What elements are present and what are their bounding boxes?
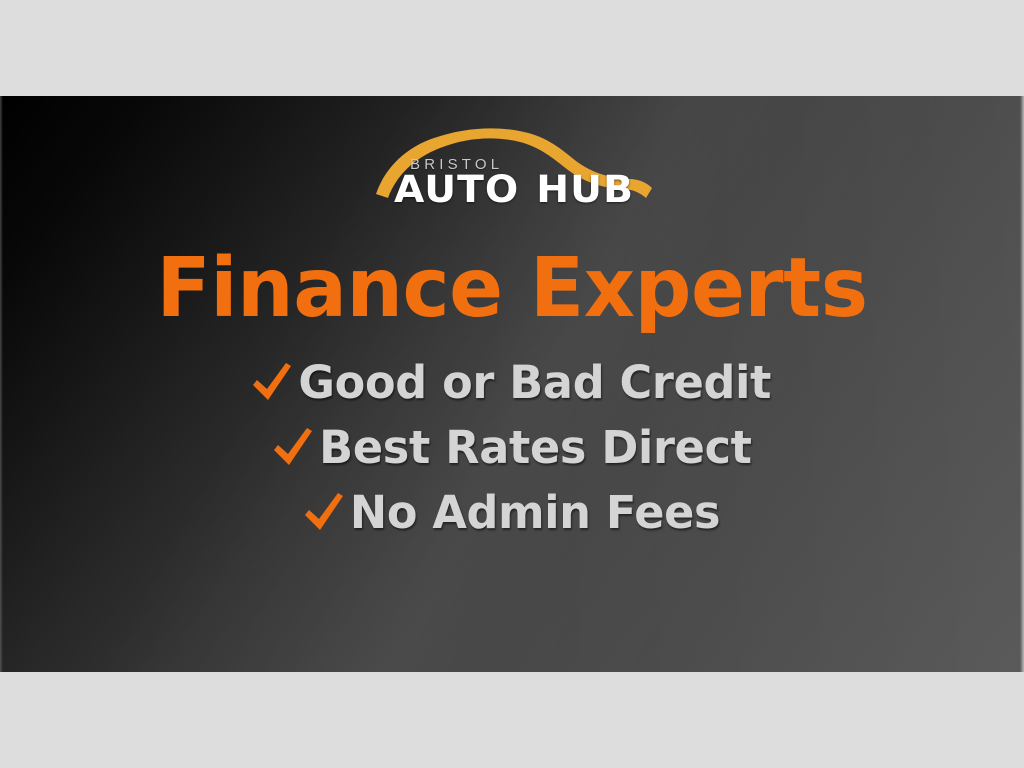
check-icon — [271, 423, 315, 473]
list-item: Best Rates Direct — [0, 423, 1024, 473]
check-icon — [250, 358, 294, 408]
letterbox-bar-top — [0, 0, 1024, 96]
benefits-list: Good or Bad Credit Best Rates Direct No … — [0, 358, 1024, 553]
list-item: No Admin Fees — [0, 488, 1024, 538]
list-item: Good or Bad Credit — [0, 358, 1024, 408]
advertisement-banner-stage: BRISTOL AUTOHUB Finance Experts Good or … — [0, 0, 1024, 768]
check-icon — [302, 488, 346, 538]
bristol-auto-hub-logo: BRISTOL AUTOHUB — [370, 118, 660, 214]
banner-artwork: BRISTOL AUTOHUB Finance Experts Good or … — [0, 96, 1024, 672]
list-item-label: Good or Bad Credit — [299, 359, 772, 406]
car-silhouette-swoosh-icon — [370, 118, 660, 214]
letterbox-bar-bottom — [0, 672, 1024, 768]
list-item-label: Best Rates Direct — [319, 424, 751, 471]
headline: Finance Experts — [15, 248, 1008, 330]
list-item-label: No Admin Fees — [350, 489, 720, 536]
